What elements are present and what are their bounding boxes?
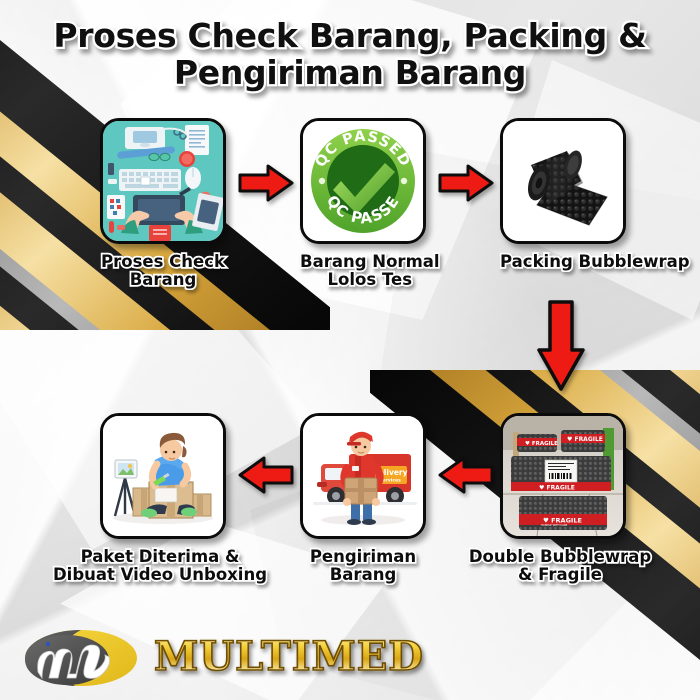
- courier-delivery-truck: Delivery Services: [303, 416, 423, 536]
- step-2-caption: Barang Normal Lolos Tes: [300, 253, 440, 290]
- arrow-2-right: [438, 163, 494, 207]
- arrow-3-down: [536, 300, 586, 396]
- step-card-pengiriman-barang[interactable]: Delivery Services: [300, 413, 426, 585]
- step-card-barang-normal-lolos-tes[interactable]: QC PASSED QC PASSE Barang Normal Lolos T…: [300, 118, 440, 290]
- arrow-1-right: [238, 163, 294, 207]
- step-2-thumbnail: QC PASSED QC PASSE: [300, 118, 426, 244]
- unboxing-person-illustration: [103, 416, 223, 536]
- step-6-thumbnail: [100, 413, 226, 539]
- step-5-thumbnail: Delivery Services: [300, 413, 426, 539]
- page-title: Proses Check Barang, Packing & Pengirima…: [0, 18, 700, 92]
- arrow-5-left: [238, 455, 294, 499]
- step-card-proses-check-barang[interactable]: Proses Check Barang: [100, 118, 226, 290]
- multimed-logo-mark: [22, 622, 140, 690]
- infographic-poster: Proses Check Barang, Packing & Pengirima…: [0, 0, 700, 700]
- title-line-1: Proses Check Barang, Packing &: [30, 18, 670, 55]
- step-3-thumbnail: [500, 118, 626, 244]
- fragile-tape-text: ♥ FRAGILE: [567, 436, 603, 443]
- step-3-caption: Packing Bubblewrap: [500, 253, 690, 271]
- step-4-caption: Double Bubblewrap & Fragile: [445, 548, 675, 585]
- svg-text:HANDLE WITH CARE: HANDLE WITH CARE: [541, 523, 568, 527]
- brand-name: MULTIMED: [154, 633, 424, 680]
- step-card-packing-bubblewrap[interactable]: Packing Bubblewrap: [500, 118, 690, 271]
- fragile-tape-text: ♥ FRAGILE: [525, 441, 558, 447]
- step-1-thumbnail: [100, 118, 226, 244]
- step-card-double-bubblewrap-fragile[interactable]: ♥ FRAGILE ♥ FRAGILE ♥ FRAGILE ♥ FRAGILE …: [500, 413, 675, 585]
- brand-logo[interactable]: MULTIMED: [22, 622, 424, 690]
- step-5-caption: Pengiriman Barang: [300, 548, 426, 585]
- title-line-2: Pengiriman Barang: [30, 55, 670, 92]
- step-4-thumbnail: ♥ FRAGILE ♥ FRAGILE ♥ FRAGILE ♥ FRAGILE …: [500, 413, 626, 539]
- black-bubblewrap-roll: [503, 121, 623, 241]
- desk-workspace-illustration: [103, 121, 223, 241]
- step-1-caption: Proses Check Barang: [100, 253, 226, 290]
- wrapped-packages-fragile-photo: ♥ FRAGILE ♥ FRAGILE ♥ FRAGILE ♥ FRAGILE …: [503, 416, 623, 536]
- fragile-tape-text: ♥ FRAGILE: [539, 485, 575, 492]
- step-6-caption: Paket Diterima & Dibuat Video Unboxing: [45, 548, 275, 585]
- arrow-4-left: [438, 455, 494, 499]
- qc-passed-badge: QC PASSED QC PASSE: [303, 121, 423, 241]
